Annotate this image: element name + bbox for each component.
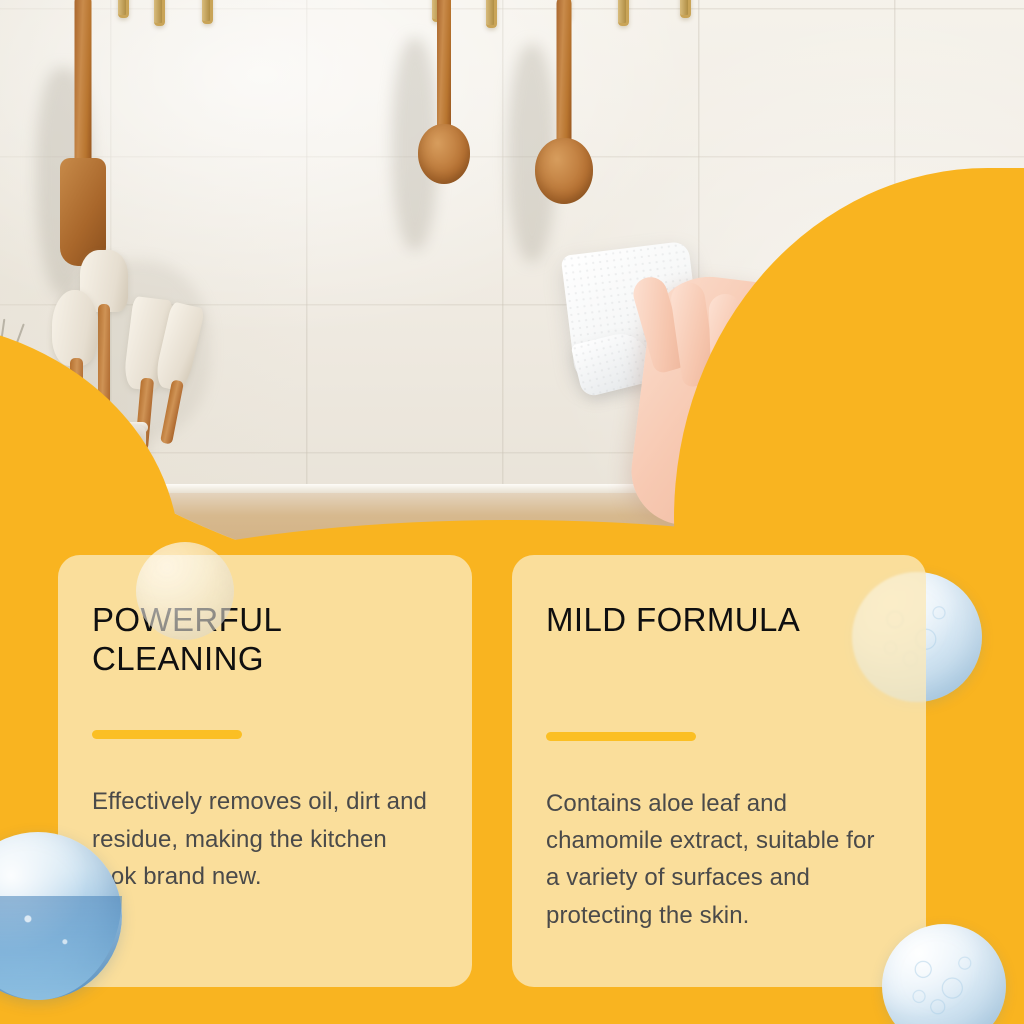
ladle-head xyxy=(52,290,98,366)
card-body-mild-formula: Contains aloe leaf and chamomile extract… xyxy=(546,785,892,935)
accent-bar-mild-formula xyxy=(546,732,696,741)
feature-card-mild-formula[interactable]: MILD FORMULA Contains aloe leaf and cham… xyxy=(512,555,926,987)
accent-bar-powerful-cleaning xyxy=(92,730,242,739)
brass-hook-2 xyxy=(154,0,165,26)
wooden-spoon-right xyxy=(538,0,590,210)
card-body-powerful-cleaning: Effectively removes oil, dirt and residu… xyxy=(92,783,438,895)
wooden-spatula xyxy=(58,0,108,248)
brass-hook-7 xyxy=(618,0,629,26)
brass-hook-1 xyxy=(118,0,129,18)
brass-hook-3 xyxy=(202,0,213,24)
wooden-spoon-left xyxy=(420,0,468,194)
brass-hook-5 xyxy=(486,0,497,28)
bubble-foam-corner-dots xyxy=(892,934,996,1024)
brass-hook-8 xyxy=(680,0,691,18)
card-title-mild-formula: MILD FORMULA xyxy=(546,601,892,640)
bubble-pale-heading xyxy=(136,542,234,640)
poster-canvas: BLEND POWERFUL CLEANING Effectively remo… xyxy=(0,0,1024,1024)
